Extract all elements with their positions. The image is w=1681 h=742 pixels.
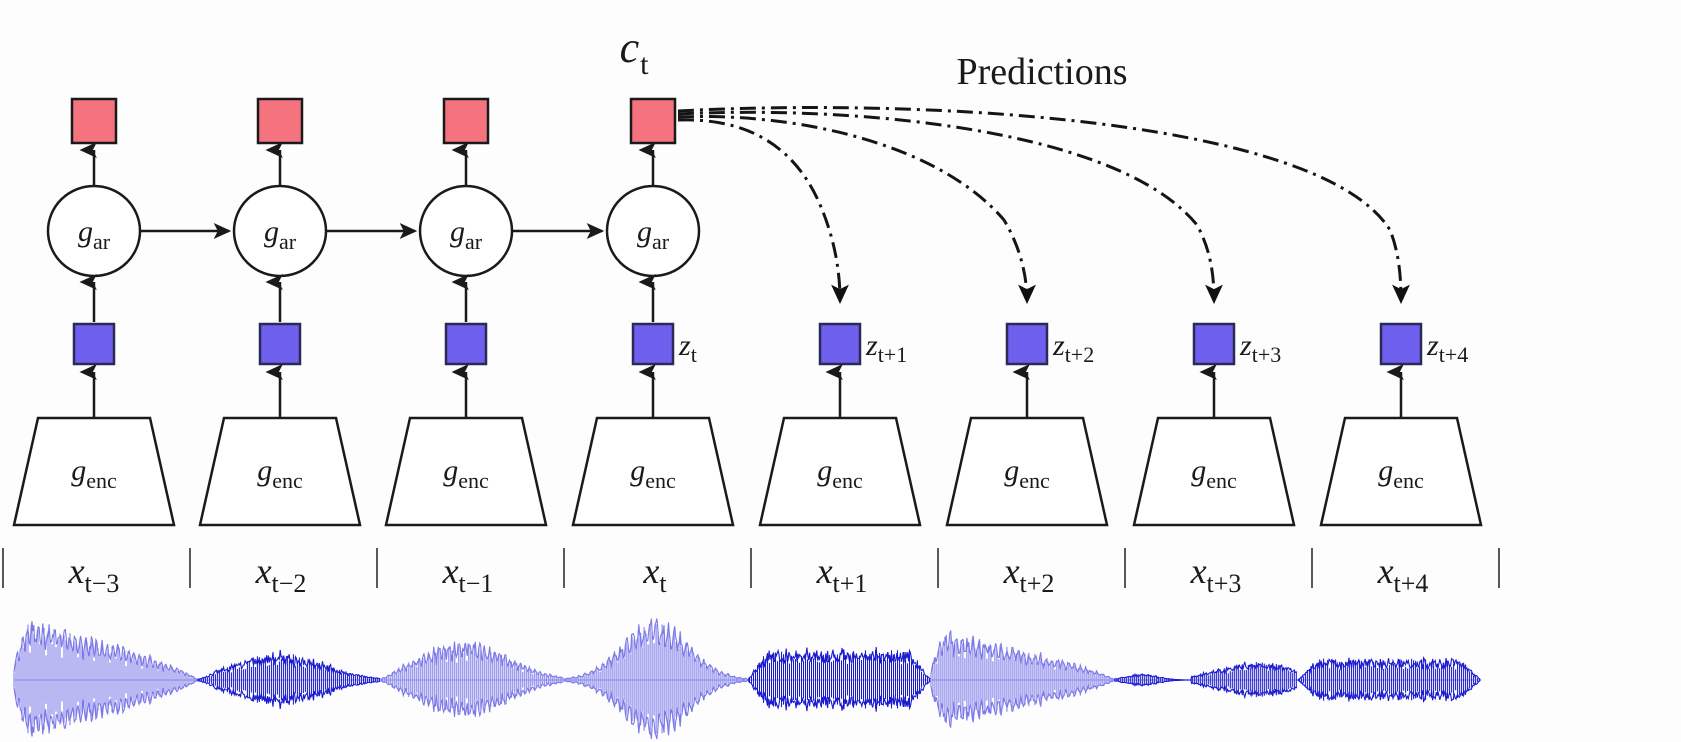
ct-base: c: [620, 23, 640, 72]
latent-square-zt: [633, 324, 673, 364]
genc-sub-2: enc: [458, 468, 489, 493]
x-label-7: xt+4: [1377, 551, 1429, 598]
x-base-1: x: [255, 551, 272, 591]
latent-to-ar-arrows: [94, 282, 653, 322]
waveform-segment-upper-3: [564, 619, 747, 680]
z-base-t1: z: [865, 329, 878, 362]
x-base-6: x: [1190, 551, 1207, 591]
waveform-segment-lower-0: [14, 681, 197, 737]
latent-square-zt2: [1007, 324, 1047, 364]
x-sub-1: t−2: [272, 569, 307, 598]
genc-base-7: g: [1378, 454, 1393, 487]
prediction-curve-t1: [678, 120, 840, 300]
z-sub-t4: t+4: [1439, 342, 1469, 367]
x-base-4: x: [816, 551, 833, 591]
gar-base-1: g: [264, 215, 279, 248]
genc-sub-5: enc: [1019, 468, 1050, 493]
ct-sub: t: [640, 48, 649, 81]
waveform-segment-upper-1: [197, 650, 380, 679]
genc-base-6: g: [1191, 454, 1206, 487]
waveform-segment-lower-3: [564, 681, 747, 739]
x-base-5: x: [1003, 551, 1020, 591]
waveform-segment-upper-7: [1298, 658, 1481, 680]
prediction-curve-t2: [678, 117, 1027, 300]
x-sub-7: t+4: [1394, 569, 1429, 598]
ct-label: ct: [620, 23, 650, 81]
z-label-t: zt: [678, 329, 697, 367]
genc-base-0: g: [71, 454, 86, 487]
z-label-t1: zt+1: [865, 329, 907, 367]
latent-square-zt4: [1381, 324, 1421, 364]
latent-square-2: [446, 324, 486, 364]
latent-square-0: [74, 324, 114, 364]
genc-sub-0: enc: [86, 468, 117, 493]
x-label-1: xt−2: [255, 551, 307, 598]
waveform-segment-lower-7: [1298, 680, 1481, 701]
context-square-2: [444, 99, 488, 143]
waveform-segment-upper-0: [14, 621, 197, 679]
prediction-curve-t3: [678, 112, 1214, 300]
x-base-7: x: [1377, 551, 1394, 591]
genc-base-3: g: [630, 454, 645, 487]
latent-labels: zt zt+1 zt+2 zt+3 zt+4: [678, 329, 1468, 367]
waveform-segment-upper-2: [381, 642, 564, 680]
x-label-2: xt−1: [442, 551, 494, 598]
context-squares-row: [72, 99, 675, 143]
context-square-ct: [631, 99, 675, 143]
genc-sub-3: enc: [645, 468, 676, 493]
segment-separators: [3, 548, 1499, 588]
z-label-t4: zt+4: [1426, 329, 1468, 367]
waveform-segment-upper-5: [931, 631, 1114, 680]
z-sub-t1: t+1: [878, 342, 908, 367]
waveform-segment-lower-6: [1114, 680, 1297, 697]
figure-canvas: ct Predictions gar gar gar: [0, 0, 1681, 742]
waveform-segment-upper-6: [1114, 662, 1297, 680]
encoder-to-latent-arrows: [94, 372, 1401, 418]
x-label-6: xt+3: [1190, 551, 1242, 598]
x-label-4: xt+1: [816, 551, 868, 598]
gar-sub-1: ar: [279, 229, 297, 254]
latent-squares-row: [74, 324, 1421, 364]
x-base-3: x: [642, 551, 659, 591]
x-label-0: xt−3: [68, 551, 120, 598]
z-base-t3: z: [1239, 329, 1252, 362]
x-base-0: x: [68, 551, 85, 591]
genc-base-1: g: [257, 454, 272, 487]
genc-sub-7: enc: [1393, 468, 1424, 493]
z-base-t4: z: [1426, 329, 1439, 362]
latent-square-zt3: [1194, 324, 1234, 364]
gar-base-2: g: [450, 215, 465, 248]
latent-square-1: [260, 324, 300, 364]
z-base-t: z: [678, 329, 691, 362]
genc-sub-4: enc: [832, 468, 863, 493]
x-sub-0: t−3: [85, 569, 120, 598]
x-label-3: xt: [642, 551, 667, 598]
z-base-t2: z: [1052, 329, 1065, 362]
genc-base-2: g: [443, 454, 458, 487]
cpc-architecture-figure: ct Predictions gar gar gar: [0, 0, 1681, 742]
x-sub-6: t+3: [1207, 569, 1242, 598]
waveform-segment-lower-1: [197, 681, 380, 709]
gar-base-0: g: [78, 215, 93, 248]
prediction-curves: [678, 108, 1401, 300]
latent-square-zt1: [820, 324, 860, 364]
encoders-row: genc genc genc genc genc genc genc genc: [14, 418, 1481, 525]
ar-to-context-arrows: [94, 150, 653, 192]
gar-sub-2: ar: [465, 229, 483, 254]
x-sub-3: t: [659, 569, 667, 598]
genc-sub-1: enc: [272, 468, 303, 493]
gar-sub-3: ar: [652, 229, 670, 254]
input-labels: xt−3 xt−2 xt−1 xt xt+1 xt+2 xt+3 xt+4: [68, 551, 1429, 598]
x-sub-4: t+1: [833, 569, 868, 598]
x-label-5: xt+2: [1003, 551, 1055, 598]
prediction-curve-t4: [678, 108, 1401, 300]
x-sub-5: t+2: [1020, 569, 1055, 598]
waveform-segment-upper-4: [748, 647, 931, 680]
waveform-segment-lower-2: [381, 681, 564, 717]
audio-waveform: [14, 619, 1481, 740]
z-label-t2: zt+2: [1052, 329, 1094, 367]
context-square-1: [258, 99, 302, 143]
z-sub-t3: t+3: [1252, 342, 1282, 367]
x-sub-2: t−1: [459, 569, 494, 598]
context-square-0: [72, 99, 116, 143]
z-sub-t: t: [691, 342, 697, 367]
genc-sub-6: enc: [1206, 468, 1237, 493]
x-base-2: x: [442, 551, 459, 591]
genc-base-5: g: [1004, 454, 1019, 487]
z-sub-t2: t+2: [1065, 342, 1095, 367]
gar-base-3: g: [637, 215, 652, 248]
genc-base-4: g: [817, 454, 832, 487]
predictions-label: Predictions: [957, 51, 1128, 93]
waveform-segment-lower-4: [748, 680, 931, 712]
waveform-segment-lower-5: [931, 681, 1114, 728]
gar-sub-0: ar: [93, 229, 111, 254]
z-label-t3: zt+3: [1239, 329, 1281, 367]
